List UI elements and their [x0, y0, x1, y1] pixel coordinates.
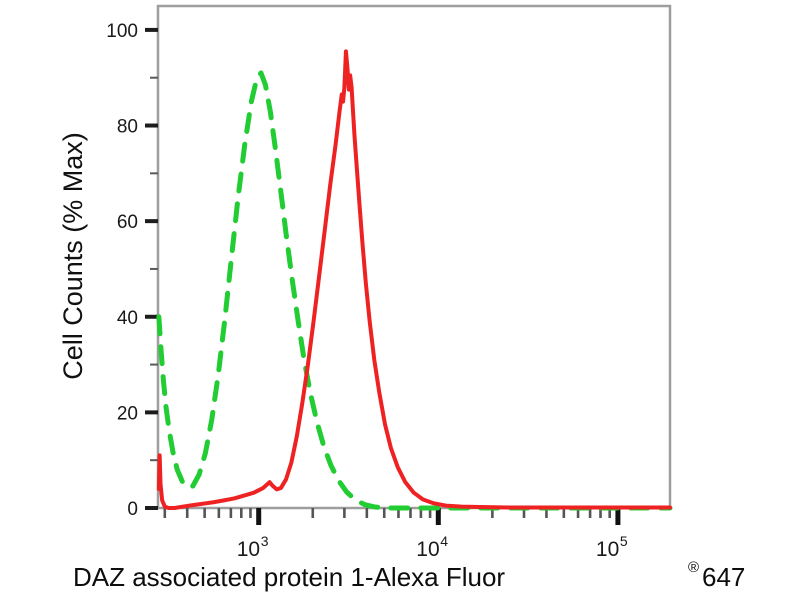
y-tick-label: 20 [117, 403, 138, 424]
x-axis-title-registered-icon: ® [688, 559, 699, 576]
plot-frame [158, 6, 670, 508]
x-tick-label-exponent: 5 [620, 533, 628, 549]
x-tick-label-base: 10 [416, 538, 439, 561]
y-tick-label: 0 [127, 499, 138, 520]
y-tick-label: 40 [117, 308, 138, 329]
x-tick-label-exponent: 4 [440, 533, 448, 549]
histogram-plot: 020406080100 103104105 Cell Counts (% Ma… [0, 0, 800, 600]
x-tick-label-base: 10 [237, 538, 260, 561]
y-tick-label: 100 [106, 21, 138, 42]
y-axis-title: Cell Counts (% Max) [58, 132, 88, 380]
y-axis-title-text: Cell Counts (% Max) [58, 132, 88, 380]
y-tick-label: 60 [117, 212, 138, 233]
x-axis-title-main: DAZ associated protein 1-Alexa Fluor [73, 562, 505, 592]
x-axis-title-tail: 647 [702, 562, 745, 592]
x-tick-label-exponent: 3 [261, 533, 269, 549]
y-tick-label: 80 [117, 117, 138, 138]
flow-cytometry-figure: 020406080100 103104105 Cell Counts (% Ma… [0, 0, 800, 600]
x-tick-label-base: 10 [596, 538, 619, 561]
